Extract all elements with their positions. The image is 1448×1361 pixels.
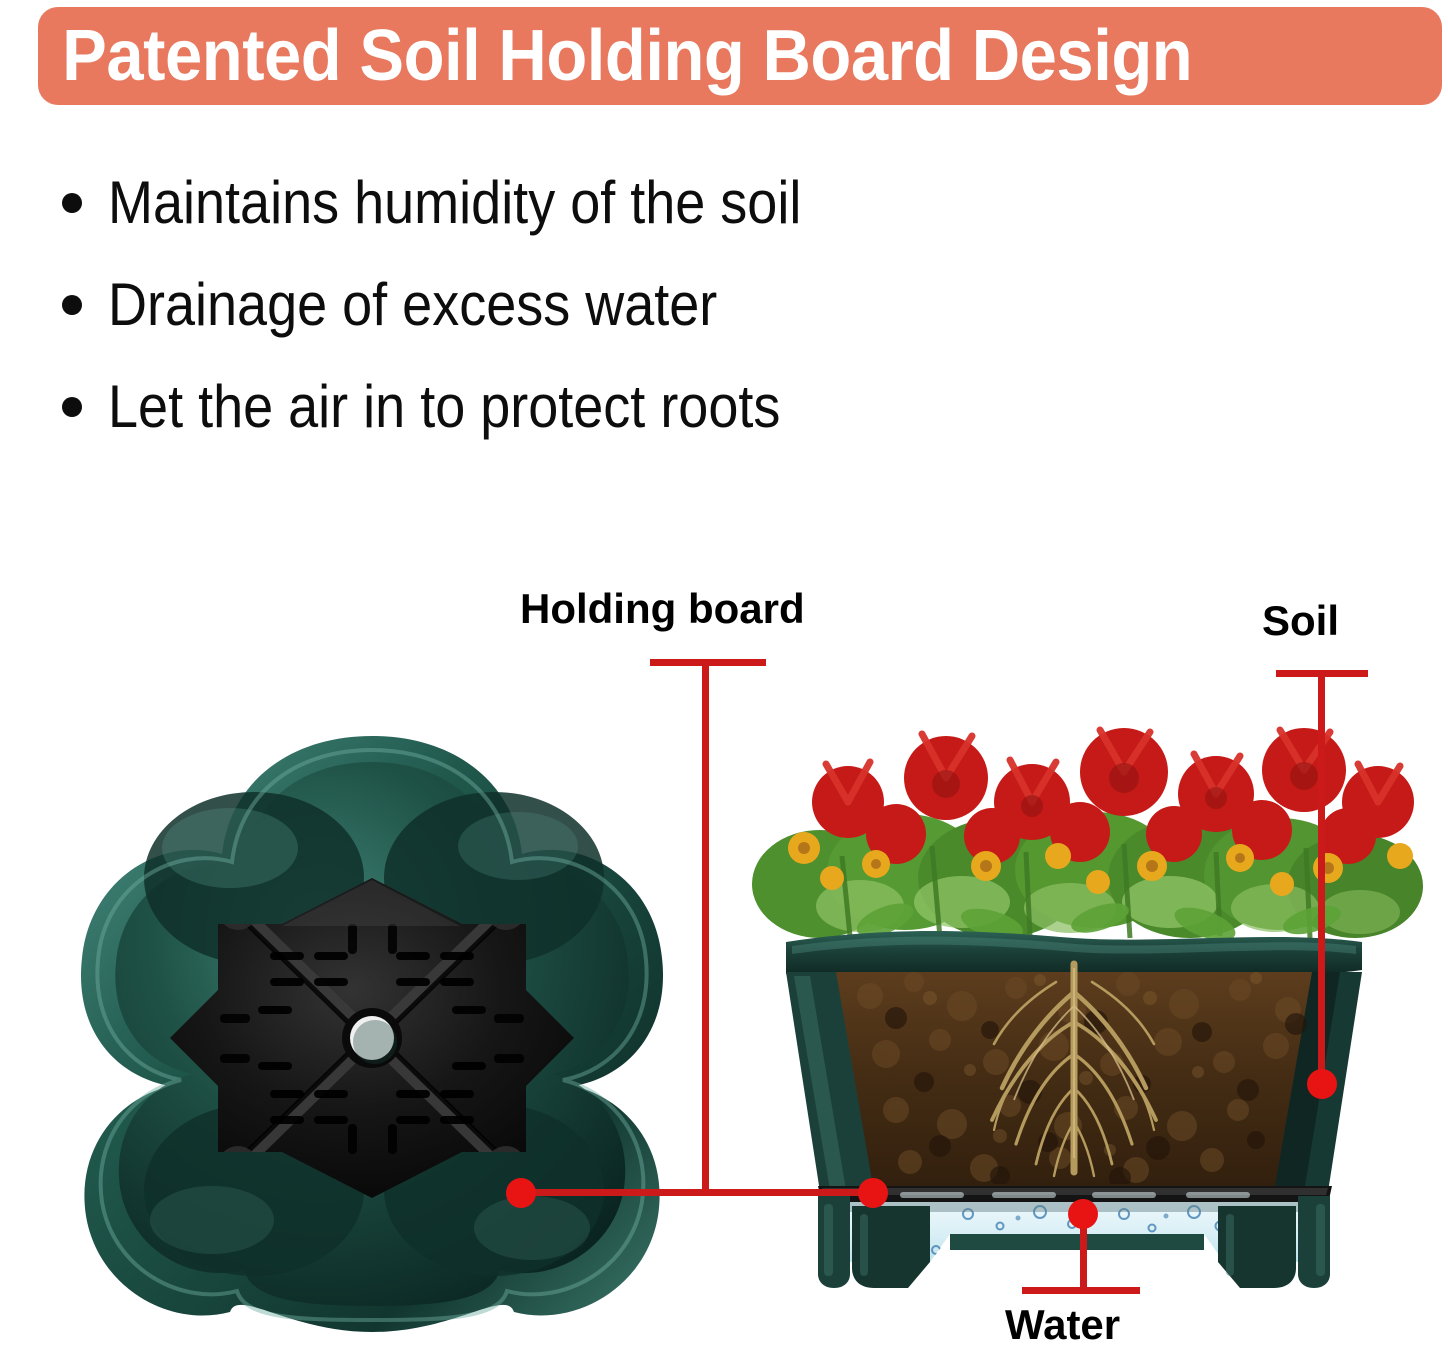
bullet-icon [62,397,82,417]
marker-soil [1307,1069,1337,1099]
drain-hole-shadow [353,1020,397,1064]
leader-holding-board-stem [702,659,709,1193]
feature-list: Maintains humidity of the soil Drainage … [62,152,1162,458]
leader-holding-board-bottom-bar [520,1189,878,1196]
pot-foot-left [818,1196,850,1288]
tray-highlight-3 [150,1186,274,1254]
leader-water-bottom-bar [1022,1287,1140,1294]
tray-highlight-1 [162,808,298,888]
tray-highlight-2 [458,812,578,880]
callout-label-holding-board: Holding board [520,588,805,630]
header-banner: Patented Soil Holding Board Design [38,7,1442,105]
bullet-icon [62,295,82,315]
marker-holding-board-pot [858,1178,888,1208]
list-item: Maintains humidity of the soil [62,152,1162,254]
bullet-icon [62,193,82,213]
callout-label-water: Water [1005,1304,1120,1346]
pot-foot-center [950,1234,1204,1250]
marker-water [1068,1199,1098,1229]
quatrefoil-tray-illustration [62,728,682,1340]
product-image-holding-board-tray [62,728,682,1340]
list-item-label: Maintains humidity of the soil [108,173,801,233]
holding-board-top-sheen [822,1188,1328,1195]
infographic-page: Patented Soil Holding Board Design Maint… [0,0,1448,1361]
list-item: Let the air in to protect roots [62,356,1162,458]
list-item: Drainage of excess water [62,254,1162,356]
marker-holding-board-tray [506,1178,536,1208]
list-item-label: Let the air in to protect roots [108,377,780,437]
callout-label-soil: Soil [1262,600,1339,642]
tray-highlight-4 [474,1196,590,1260]
leader-soil-stem [1318,670,1325,1082]
pot-foot-right [1298,1196,1330,1288]
list-item-label: Drainage of excess water [108,275,717,335]
holding-board-insert [170,878,574,1198]
page-title: Patented Soil Holding Board Design [38,20,1192,92]
